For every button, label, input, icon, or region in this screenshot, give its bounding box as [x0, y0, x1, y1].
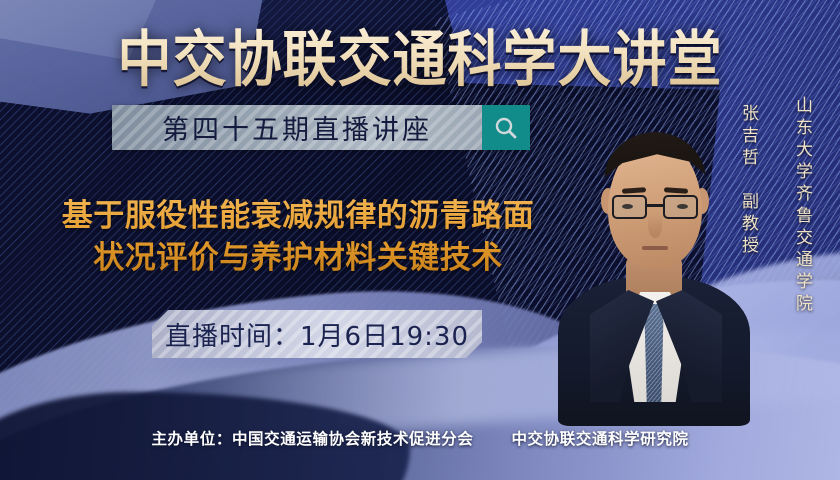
footer-institute: 中交协联交通科学研究院	[511, 430, 688, 448]
portrait-glasses-lens-left	[612, 195, 647, 219]
portrait-glasses-bridge	[647, 204, 663, 207]
speaker-name-title: 张吉哲 副教授	[736, 104, 761, 258]
lecture-topic: 基于服役性能衰减规律的沥青路面 状况评价与养护材料关键技术	[18, 195, 578, 279]
search-icon	[482, 105, 530, 150]
episode-banner: 第四十五期直播讲座	[112, 105, 530, 150]
footer: 主办单位：中国交通运输协会新技术促进分会 中交协联交通科学研究院	[0, 427, 840, 449]
live-lecture-poster: 中交协联交通科学大讲堂 第四十五期直播讲座 基于服役性能衰减规律的沥青路面 状况…	[0, 0, 840, 480]
episode-banner-label: 第四十五期直播讲座	[162, 108, 432, 147]
portrait-nose	[648, 214, 662, 238]
portrait-glasses-lens-right	[663, 195, 698, 219]
speaker-organization: 山东大学齐鲁交通学院	[790, 96, 815, 316]
footer-organizer: 主办单位：中国交通运输协会新技术促进分会	[151, 430, 473, 448]
lecture-topic-line-1: 基于服役性能衰减规律的沥青路面	[18, 195, 578, 237]
speaker-portrait	[556, 96, 752, 396]
broadcast-time-banner: 直播时间：1月6日19:30	[152, 310, 482, 358]
page-title: 中交协联交通科学大讲堂	[0, 9, 840, 97]
lecture-topic-line-2: 状况评价与养护材料关键技术	[18, 237, 578, 279]
portrait-mouth	[642, 246, 668, 250]
episode-banner-body: 第四十五期直播讲座	[112, 105, 482, 150]
broadcast-time-label: 直播时间：1月6日19:30	[165, 316, 469, 353]
